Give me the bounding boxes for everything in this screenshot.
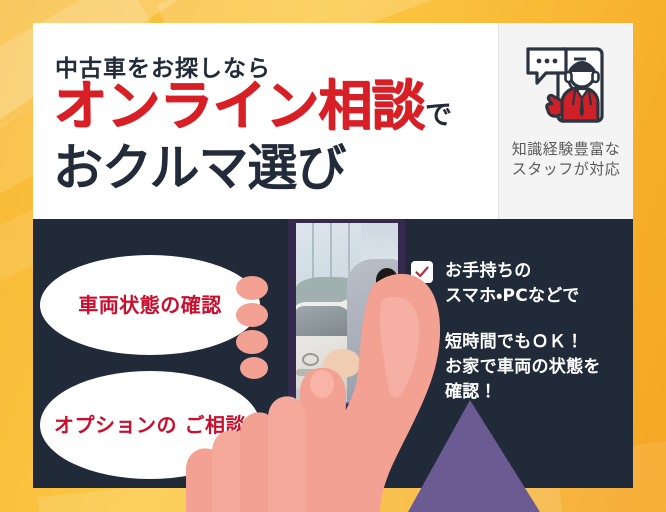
checklist-item-label: 短時間でもＯＫ！ お家で車両の状態を 確認！: [445, 330, 601, 404]
screen-staff-cuff: [375, 361, 386, 375]
headline-main: オンライン相談 で: [53, 79, 452, 133]
phone-screen: [296, 223, 398, 403]
headline-suffix-text: で: [425, 102, 452, 129]
headset-operator-icon: [518, 39, 614, 131]
feature-bubble-label: オプションの ご相談: [54, 413, 246, 437]
operator-caption-line1: 知識経験豊富な: [512, 139, 621, 159]
headline-block: 中古車をお探しなら オンライン相談 で おクルマ選び: [33, 23, 498, 219]
feature-bubble: オプションの ご相談: [40, 371, 260, 479]
feature-bubble-label: 車両状態の確認: [78, 293, 222, 317]
screen-staff-person: [347, 259, 398, 403]
smartphone-mockup: [288, 219, 406, 431]
phone-home-button: [335, 402, 359, 426]
headline-red-text: オンライン相談: [53, 79, 424, 133]
checklist-item: お手持ちの スマホ・PCなどで: [411, 259, 626, 308]
feature-checklist: お手持ちの スマホ・PCなどで 短時間でもＯＫ！ お家で車両の状態を 確認！: [411, 259, 626, 426]
screen-car-emblem: [302, 353, 319, 366]
screen-staff-hair: [376, 268, 398, 292]
dark-content-panel: 車両状態の確認 オプションの ご相談: [33, 219, 633, 488]
operator-panel: 知識経験豊富な スタッフが対応: [498, 23, 633, 219]
header-card: 中古車をお探しなら オンライン相談 で おクルマ選び: [33, 23, 633, 219]
operator-caption-line2: スタッフが対応: [512, 159, 621, 179]
headline-sub-text: おクルマ選び: [53, 143, 346, 193]
operator-caption: 知識経験豊富な スタッフが対応: [512, 139, 621, 180]
check-icon: [411, 332, 433, 354]
online-consultation-banner: 中古車をお探しなら オンライン相談 で おクルマ選び: [0, 0, 666, 512]
screen-car-windshield: [296, 306, 351, 335]
checklist-item: 短時間でもＯＫ！ お家で車両の状態を 確認！: [411, 330, 626, 404]
checklist-item-label: お手持ちの スマホ・PCなどで: [445, 259, 580, 308]
screen-staff-tie: [385, 311, 390, 348]
feature-bubble: 車両状態の確認: [40, 255, 260, 355]
check-icon: [411, 261, 433, 283]
